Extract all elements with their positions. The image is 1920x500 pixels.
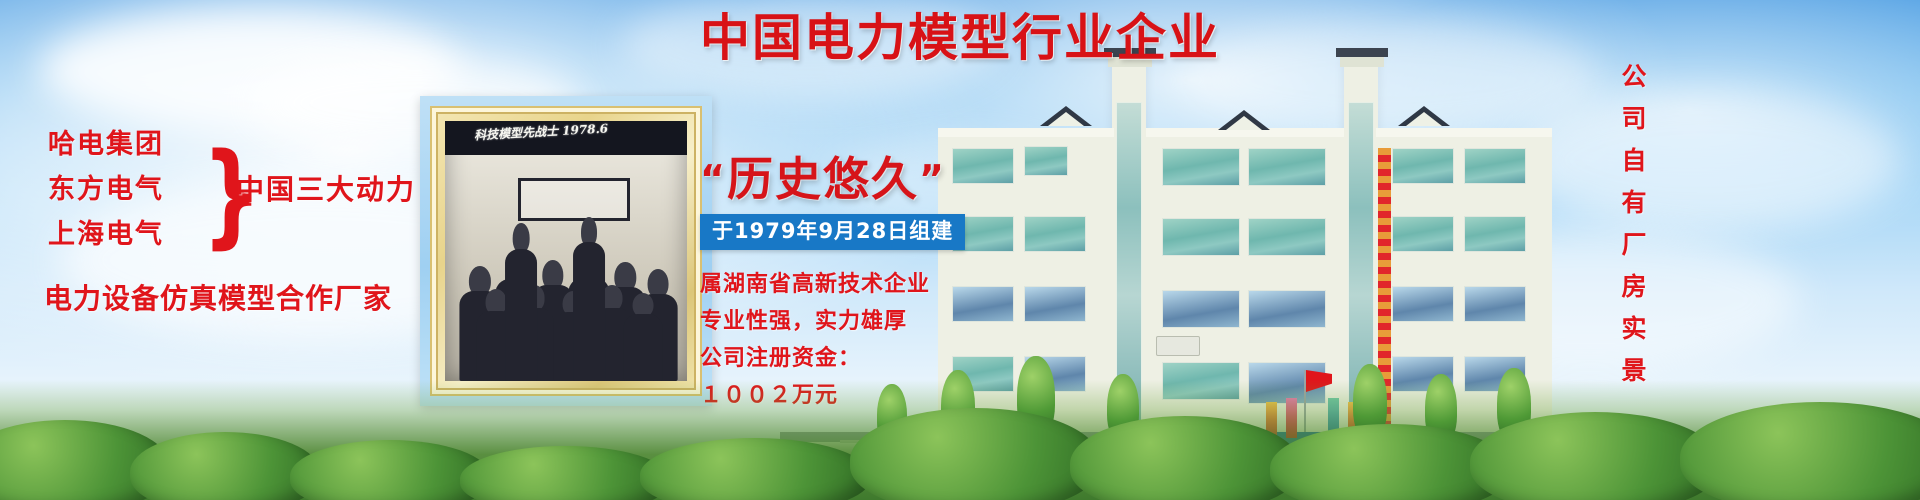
quote-close-mark: ” — [919, 157, 946, 201]
framed-historical-photo: 科技模型先战士 1978.6 — [420, 96, 712, 406]
quote-open-mark: “ — [700, 157, 727, 201]
left-text-block: 哈电集团 东方电气 上海电气 } 中国三大动力 电力设备仿真模型合作厂家 — [44, 130, 444, 260]
quote-text: 历史悠久 — [727, 152, 919, 206]
vertical-char-4: 厂 — [1608, 224, 1660, 266]
left-footer-text: 电力设备仿真模型合作厂家 — [44, 282, 392, 316]
group-item-0: 哈电集团 — [48, 130, 164, 160]
bottom-fade — [0, 484, 1920, 500]
group-item-1: 东方电气 — [48, 175, 164, 205]
three-powers-label: 中国三大动力 — [236, 174, 416, 206]
vertical-char-5: 房 — [1608, 266, 1660, 308]
photo-people-group — [445, 189, 687, 381]
vertical-char-1: 司 — [1608, 98, 1660, 140]
group-photo-image: 科技模型先战士 1978.6 — [445, 121, 687, 381]
fact-line-0: 属湖南省高新技术企业 — [700, 266, 1000, 303]
three-powers-group: 哈电集团 东方电气 上海电气 } 中国三大动力 — [44, 130, 444, 260]
vertical-char-6: 实 — [1608, 308, 1660, 350]
vertical-caption: 公 司 自 有 厂 房 实 景 — [1608, 56, 1660, 392]
company-hero-banner: 欢迎光临 中国电力模型行业企业 哈电集团 东方电气 上海电气 } 中国三大动力 … — [0, 0, 1920, 500]
vertical-char-2: 自 — [1608, 140, 1660, 182]
group-item-2: 上海电气 — [48, 220, 164, 250]
fact-line-1: 专业性强，实力雄厚 — [700, 303, 1000, 340]
vertical-char-0: 公 — [1608, 56, 1660, 98]
vertical-char-3: 有 — [1608, 182, 1660, 224]
gold-picture-frame: 科技模型先战士 1978.6 — [430, 106, 702, 396]
history-quote: “历史悠久” — [700, 150, 1000, 208]
founding-date-ribbon: 于1979年9月28日组建 — [700, 214, 965, 250]
air-conditioner-unit — [1156, 336, 1200, 356]
